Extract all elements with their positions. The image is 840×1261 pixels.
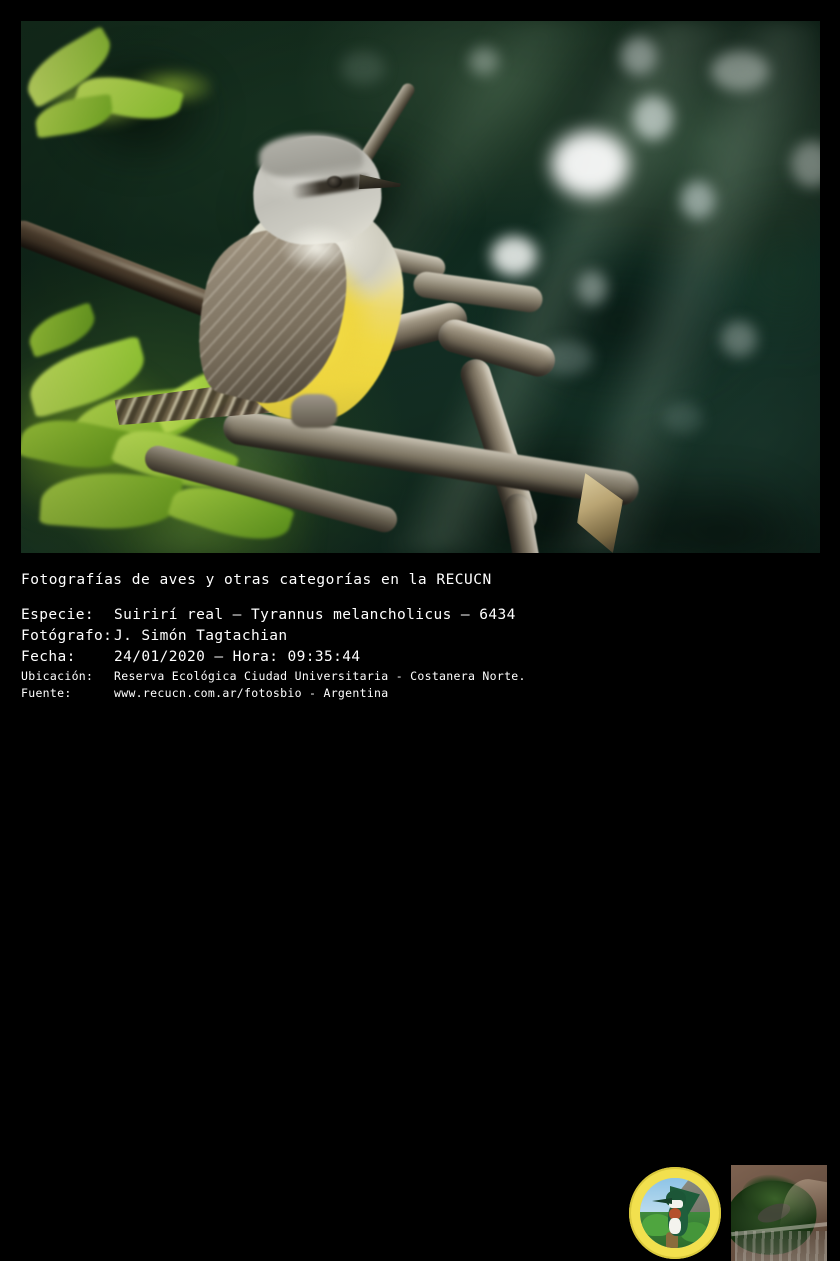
bokeh-highlight xyxy=(469,47,499,75)
kingfisher-beak xyxy=(652,1198,672,1204)
emblem-scene xyxy=(640,1178,710,1248)
reserve-aerial-photo[interactable] xyxy=(731,1165,827,1261)
metadata-list: Especie: Suirirí real — Tyrannus melanch… xyxy=(21,605,526,702)
recucn-emblem-logo[interactable] xyxy=(629,1167,721,1259)
caption-panel: Fotografías de aves y otras categorías e… xyxy=(0,560,840,708)
metadata-row-fecha: Fecha: 24/01/2020 — Hora: 09:35:44 xyxy=(21,647,526,668)
kingfisher-belly xyxy=(669,1218,681,1234)
value-especie: Suirirí real — Tyrannus melancholicus — … xyxy=(114,605,516,626)
value-fotografo: J. Simón Tagtachian xyxy=(114,626,287,647)
photo-card: Fotografías de aves y otras categorías e… xyxy=(0,0,840,708)
bokeh-highlight xyxy=(663,403,703,433)
bokeh-highlight xyxy=(491,236,537,276)
bokeh-highlight xyxy=(621,37,657,75)
bokeh-highlight xyxy=(721,321,757,357)
label-fotografo: Fotógrafo: xyxy=(21,626,114,647)
metadata-row-especie: Especie: Suirirí real — Tyrannus melanch… xyxy=(21,605,526,626)
bokeh-highlight xyxy=(551,131,629,197)
value-fecha: 24/01/2020 — Hora: 09:35:44 xyxy=(114,647,361,668)
bokeh-highlight xyxy=(633,96,673,140)
value-ubicacion: Reserva Ecológica Ciudad Universitaria -… xyxy=(114,668,526,685)
bird-crown xyxy=(259,134,363,178)
label-fuente: Fuente: xyxy=(21,685,114,702)
bird-throat xyxy=(269,216,365,280)
bird-foot xyxy=(291,394,337,428)
metadata-row-fuente: Fuente: www.recucn.com.ar/fotosbio - Arg… xyxy=(21,685,526,702)
metadata-row-ubicacion: Ubicación: Reserva Ecológica Ciudad Univ… xyxy=(21,668,526,685)
label-fecha: Fecha: xyxy=(21,647,114,668)
bird-tropical-kingbird xyxy=(141,116,471,456)
bird-eye xyxy=(327,176,342,188)
label-especie: Especie: xyxy=(21,605,114,626)
branch-segment xyxy=(502,492,548,553)
caption-title: Fotografías de aves y otras categorías e… xyxy=(21,572,492,588)
value-fuente: www.recucn.com.ar/fotosbio - Argentina xyxy=(114,685,389,702)
bokeh-highlight xyxy=(341,51,385,85)
bokeh-highlight xyxy=(681,181,715,219)
aerial-urban-area xyxy=(735,1231,827,1261)
kingfisher-icon xyxy=(654,1186,698,1236)
bird-photograph xyxy=(21,21,820,553)
label-ubicacion: Ubicación: xyxy=(21,668,114,685)
bokeh-highlight xyxy=(711,51,769,91)
metadata-row-fotografo: Fotógrafo: J. Simón Tagtachian xyxy=(21,626,526,647)
